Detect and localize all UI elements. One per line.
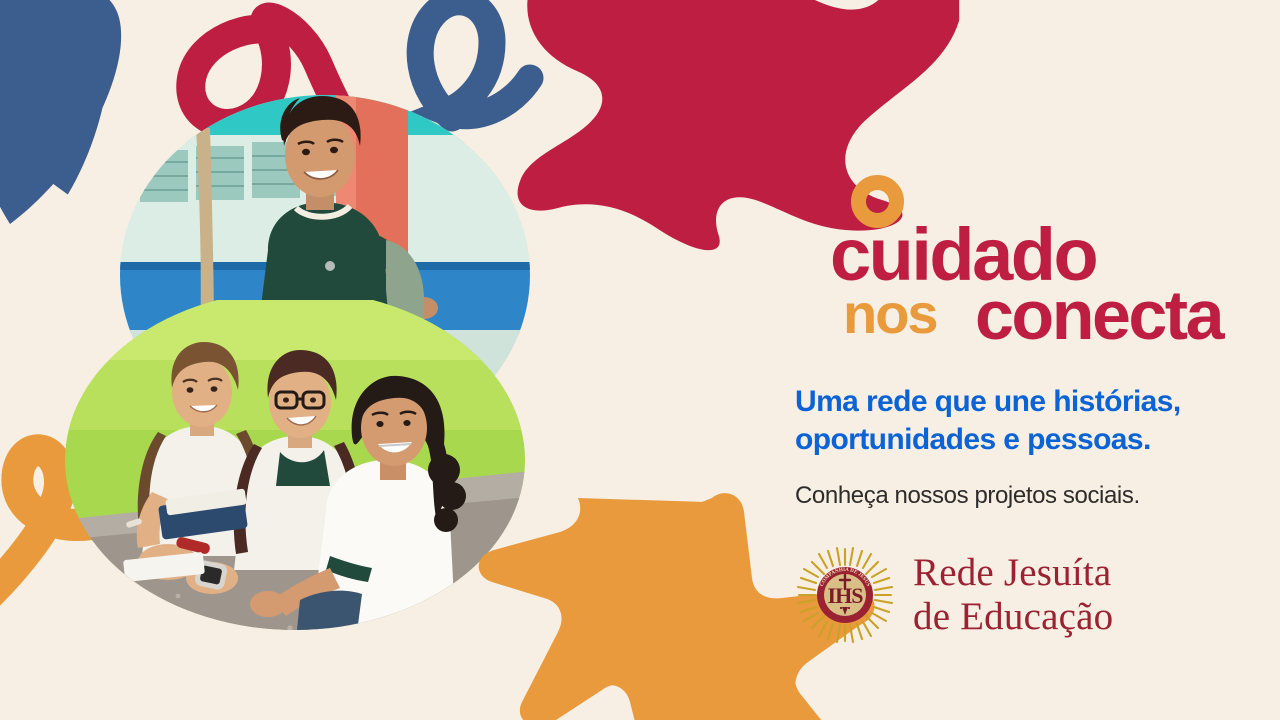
tagline-line-2: oportunidades e pessoas. xyxy=(795,421,1255,459)
campaign-word-nos: nos xyxy=(843,286,937,342)
student-photo-bottom xyxy=(60,300,540,640)
brand-name-line-2: de Educação xyxy=(913,595,1113,639)
tagline: Uma rede que une histórias, oportunidade… xyxy=(795,383,1255,460)
promotional-banner: cuidado nos conecta Uma rede que une his… xyxy=(0,0,1280,720)
campaign-logotype: cuidado nos conecta xyxy=(830,160,1255,335)
content-column: cuidado nos conecta Uma rede que une his… xyxy=(795,160,1255,645)
subtitle: Conheça nossos projetos sociais. xyxy=(795,480,1255,511)
brand-logo: COMPANHIA DE JESUS IHS Rede Jesuíta de E… xyxy=(795,545,1255,645)
brand-name: Rede Jesuíta de Educação xyxy=(913,551,1113,638)
brand-name-line-1: Rede Jesuíta xyxy=(913,551,1113,595)
ihs-sunburst-emblem-icon: COMPANHIA DE JESUS IHS xyxy=(795,545,895,645)
campaign-word-conecta: conecta xyxy=(975,280,1222,350)
tagline-line-1: Uma rede que une histórias, xyxy=(795,383,1255,421)
